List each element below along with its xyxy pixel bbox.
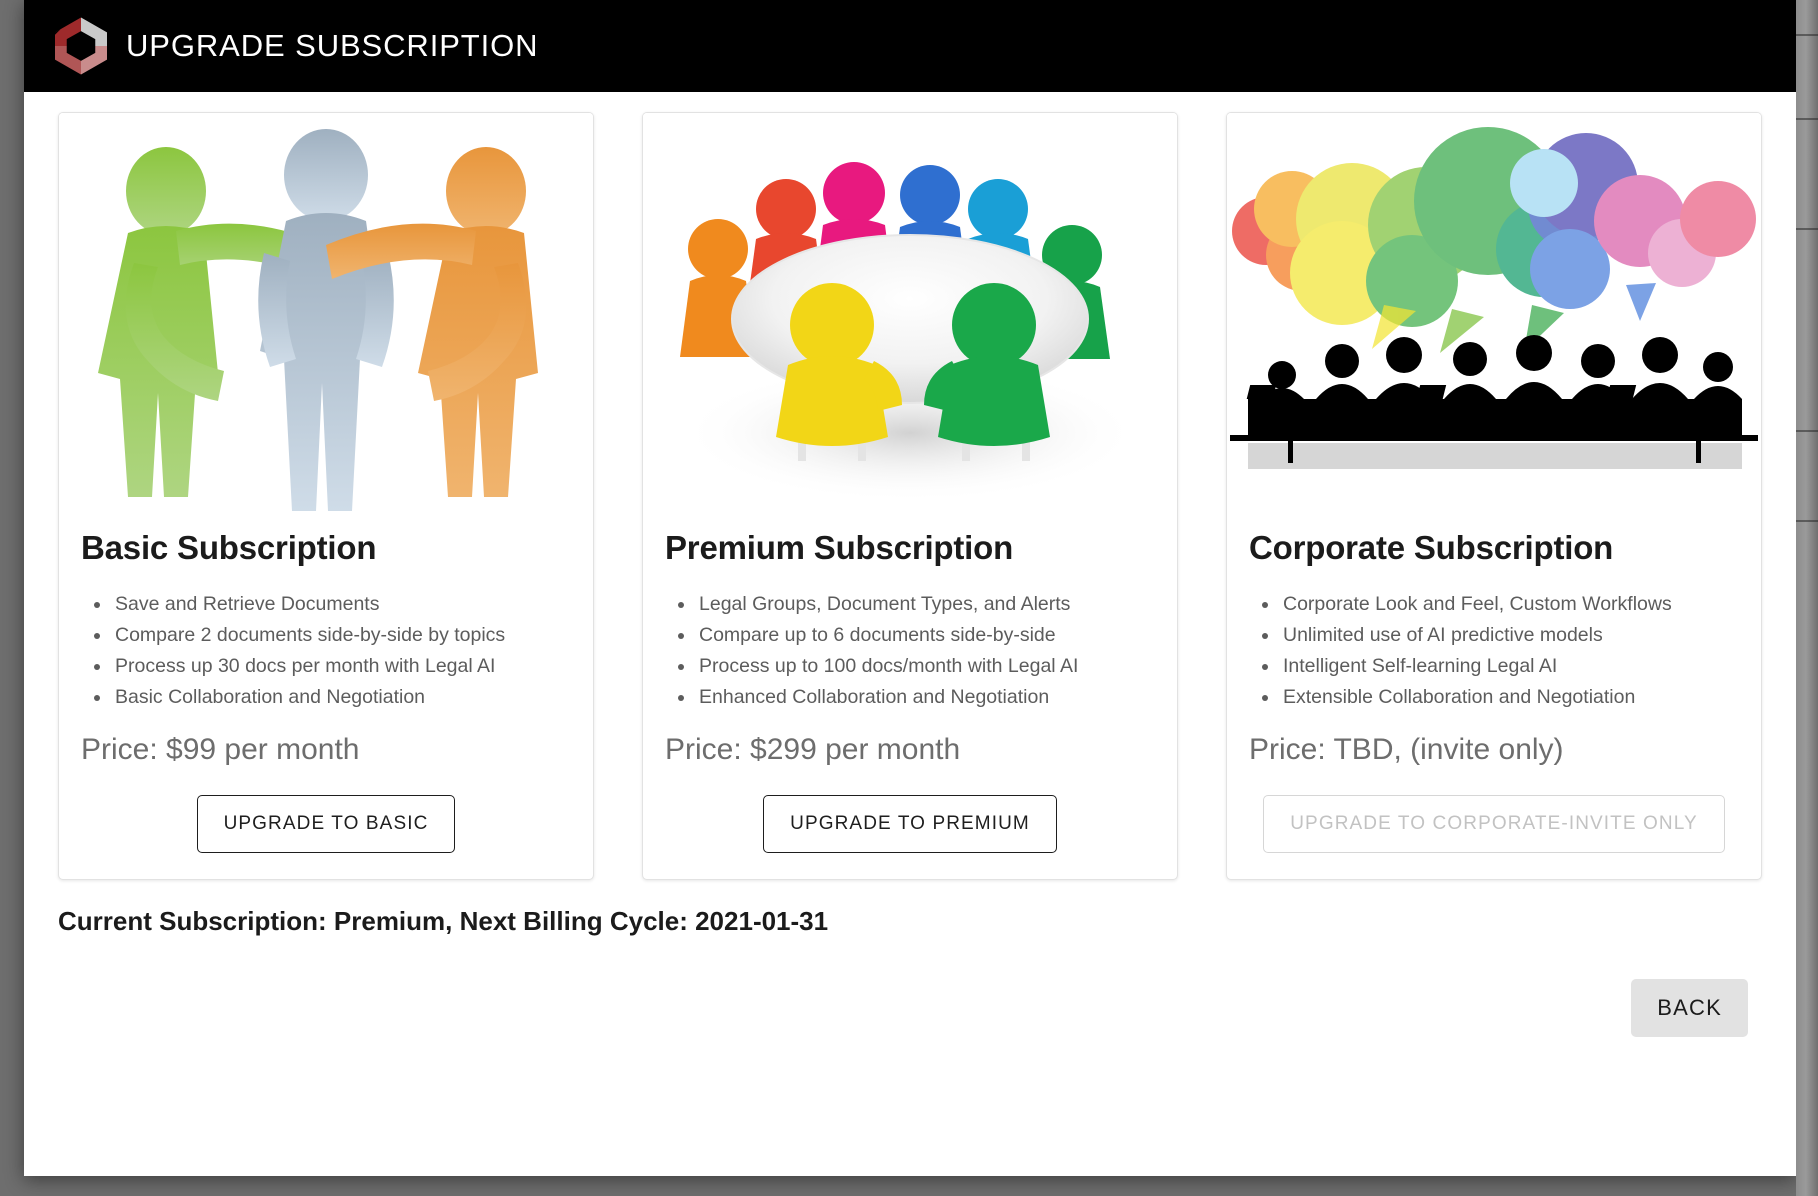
feature-item: Corporate Look and Feel, Custom Workflow… — [1249, 589, 1739, 620]
speech-bubbles-boardroom-illustration — [1227, 113, 1761, 511]
plan-card-basic: Basic Subscription Save and Retrieve Doc… — [58, 112, 594, 880]
feature-item: Enhanced Collaboration and Negotiation — [665, 682, 1155, 713]
feature-item: Process up 30 docs per month with Legal … — [81, 651, 571, 682]
feature-item: Compare 2 documents side-by-side by topi… — [81, 620, 571, 651]
footer-actions: BACK — [24, 937, 1796, 1037]
feature-item: Save and Retrieve Documents — [81, 589, 571, 620]
plan-title: Basic Subscription — [81, 529, 571, 567]
feature-item: Intelligent Self-learning Legal AI — [1249, 651, 1739, 682]
upgrade-subscription-modal: UPGRADE SUBSCRIPTION — [24, 0, 1796, 1176]
plan-title: Premium Subscription — [665, 529, 1155, 567]
plan-cta-wrap: UPGRADE TO PREMIUM — [665, 795, 1155, 853]
plans-row: Basic Subscription Save and Retrieve Doc… — [24, 92, 1796, 880]
app-header: UPGRADE SUBSCRIPTION — [24, 0, 1796, 92]
upgrade-to-corporate-button[interactable]: UPGRADE TO CORPORATE-INVITE ONLY — [1263, 795, 1725, 853]
window-right-edge — [1796, 0, 1818, 1196]
feature-list: Save and Retrieve Documents Compare 2 do… — [81, 589, 571, 713]
plan-cta-wrap: UPGRADE TO CORPORATE-INVITE ONLY — [1249, 795, 1739, 853]
plan-card-body: Corporate Subscription Corporate Look an… — [1227, 511, 1761, 879]
current-subscription-status: Current Subscription: Premium, Next Bill… — [24, 880, 1796, 937]
feature-list: Legal Groups, Document Types, and Alerts… — [665, 589, 1155, 713]
plan-card-body: Premium Subscription Legal Groups, Docum… — [643, 511, 1177, 879]
plan-card-premium: Premium Subscription Legal Groups, Docum… — [642, 112, 1178, 880]
plan-title: Corporate Subscription — [1249, 529, 1739, 567]
page-title: UPGRADE SUBSCRIPTION — [126, 28, 538, 64]
upgrade-to-premium-button[interactable]: UPGRADE TO PREMIUM — [763, 795, 1057, 853]
feature-item: Extensible Collaboration and Negotiation — [1249, 682, 1739, 713]
plan-card-body: Basic Subscription Save and Retrieve Doc… — [59, 511, 593, 879]
feature-list: Corporate Look and Feel, Custom Workflow… — [1249, 589, 1739, 713]
feature-item: Legal Groups, Document Types, and Alerts — [665, 589, 1155, 620]
upgrade-to-basic-button[interactable]: UPGRADE TO BASIC — [197, 795, 456, 853]
round-table-meeting-illustration — [643, 113, 1177, 511]
hexagon-logo-icon — [50, 15, 112, 77]
plan-card-corporate: Corporate Subscription Corporate Look an… — [1226, 112, 1762, 880]
feature-item: Basic Collaboration and Negotiation — [81, 682, 571, 713]
plan-price: Price: $299 per month — [665, 733, 1155, 767]
plan-price: Price: TBD, (invite only) — [1249, 733, 1739, 767]
feature-item: Unlimited use of AI predictive models — [1249, 620, 1739, 651]
feature-item: Process up to 100 docs/month with Legal … — [665, 651, 1155, 682]
back-button[interactable]: BACK — [1631, 979, 1748, 1037]
plan-cta-wrap: UPGRADE TO BASIC — [81, 795, 571, 853]
plan-price: Price: $99 per month — [81, 733, 571, 767]
feature-item: Compare up to 6 documents side-by-side — [665, 620, 1155, 651]
three-people-handshake-illustration — [59, 113, 593, 511]
